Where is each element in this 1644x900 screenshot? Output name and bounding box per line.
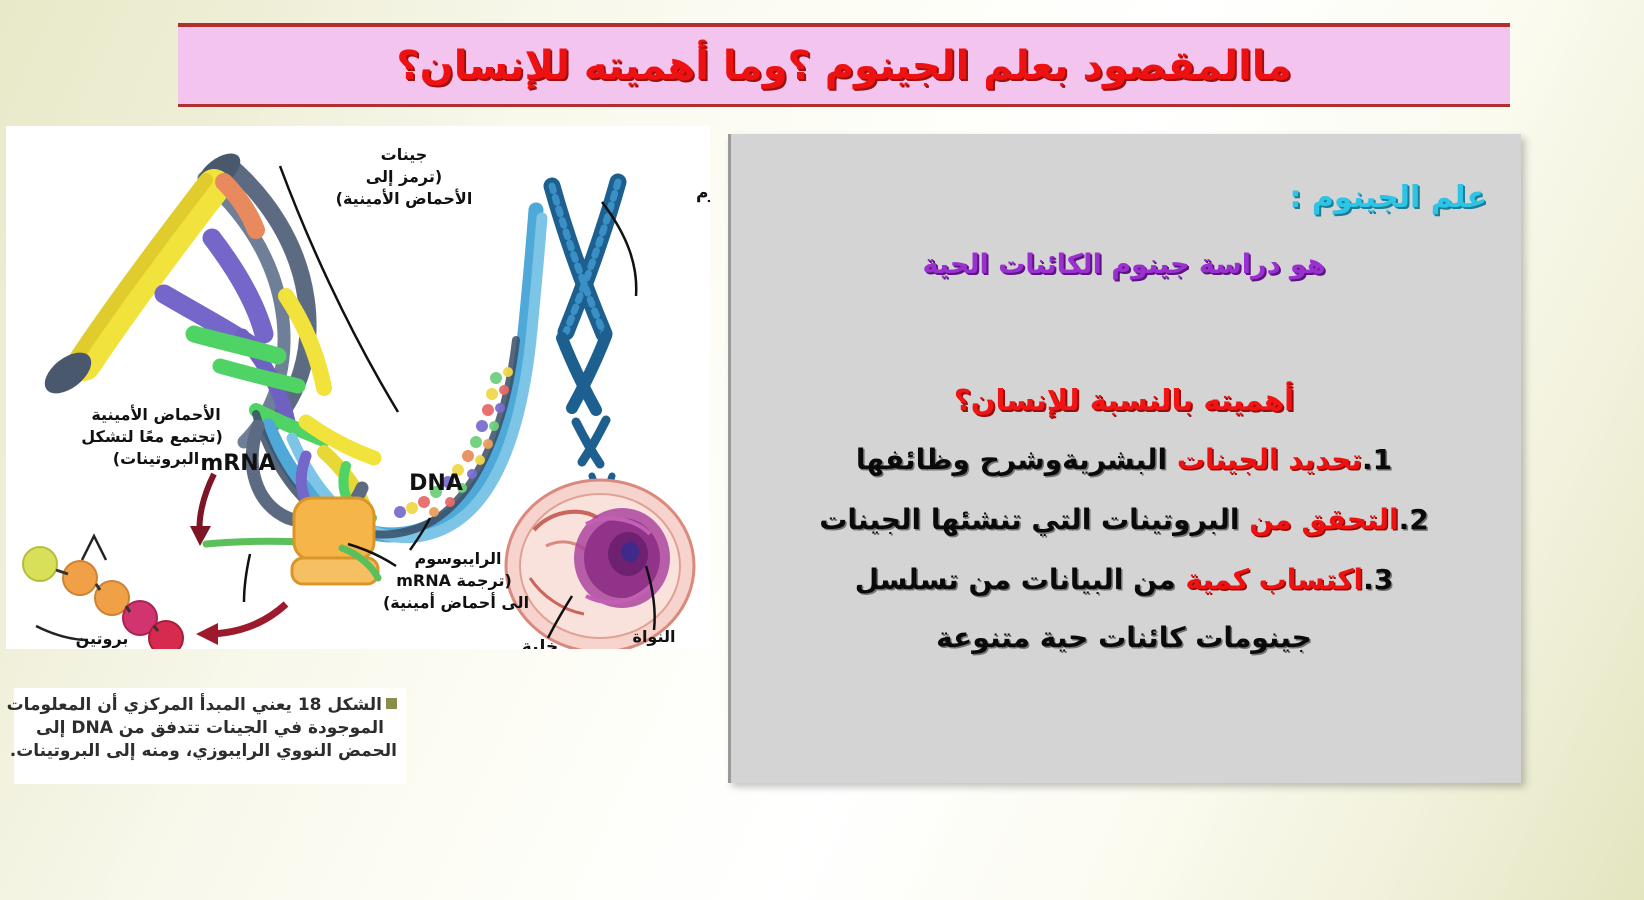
list-item-text: البشريةوشرح وظائفها bbox=[856, 443, 1177, 476]
label-gene: جينات bbox=[381, 145, 428, 164]
page-title: ماالمقصود بعلم الجينوم ؟وما أهميته للإنس… bbox=[396, 45, 1291, 87]
list-item-number: 1. bbox=[1362, 443, 1392, 476]
caption-figure-number: 18 bbox=[298, 695, 322, 715]
biology-diagram-panel: جينات (ترمز إلى الأحماض الأمينية) كروموس… bbox=[6, 126, 710, 649]
label-ribosome-sub2: الى أحماض أمينية) bbox=[383, 592, 529, 612]
content-card: علم الجينوم : هو دراسة جينوم الكائنات ال… bbox=[728, 134, 1521, 783]
list-item-number: 2. bbox=[1399, 503, 1429, 536]
label-nucleus: النواة bbox=[633, 627, 676, 646]
caption-line-1: الشكل 18 يعني المبدأ المركزي أن المعلوما… bbox=[23, 694, 397, 717]
list-item: 1.تحديد الجينات البشريةوشرح وظائفها bbox=[761, 443, 1487, 477]
list-item-highlight: تحديد الجينات bbox=[1177, 443, 1362, 476]
importance-heading: أهميته بالنسبة للإنسان؟ bbox=[761, 383, 1487, 417]
list-item-continuation: جينومات كائنات حية متنوعة bbox=[761, 621, 1487, 654]
list-item-text: من البيانات من تسلسل bbox=[855, 563, 1186, 596]
caption-rest: يعني المبدأ المركزي أن المعلومات bbox=[7, 695, 292, 715]
label-cell: خلية bbox=[522, 637, 558, 649]
figure-caption-box: الشكل 18 يعني المبدأ المركزي أن المعلوما… bbox=[14, 688, 406, 784]
central-dogma-diagram: جينات (ترمز إلى الأحماض الأمينية) كروموس… bbox=[6, 126, 710, 649]
label-ribosome: الرايبوسوم bbox=[415, 549, 502, 568]
list-item-highlight: التحقق من bbox=[1249, 503, 1398, 536]
list-item-text: البروتينات التي تنشئها الجينات bbox=[819, 503, 1249, 536]
caption-line-2: الموجودة في الجينات تتدفق من DNA إلى bbox=[23, 717, 397, 740]
label-dna: DNA bbox=[409, 471, 463, 496]
label-amino-sub2: البروتينات) bbox=[113, 449, 199, 468]
list-item: 3.اكتساب كمية من البيانات من تسلسل bbox=[761, 563, 1487, 597]
label-amino-sub1: (تجتمع معًا لتشكل bbox=[81, 427, 223, 446]
list-item: 2.التحقق من البروتينات التي تنشئها الجين… bbox=[761, 503, 1487, 537]
list-item-highlight: اكتساب كمية bbox=[1185, 563, 1363, 596]
caption-prefix: الشكل bbox=[327, 695, 382, 715]
label-amino-acids: الأحماض الأمينية bbox=[91, 405, 220, 424]
label-ribosome-sub1: (ترجمة mRNA bbox=[396, 571, 512, 590]
cell-nucleus-graphic bbox=[506, 480, 694, 649]
caption-line-3: الحمض النووي الرايبوزي، ومنه إلى البروتي… bbox=[23, 740, 397, 763]
slide-title-banner: ماالمقصود بعلم الجينوم ؟وما أهميته للإنس… bbox=[178, 23, 1510, 107]
label-mrna: mRNA bbox=[200, 451, 275, 476]
genomics-definition: هو دراسة جينوم الكائنات الحية bbox=[761, 249, 1487, 280]
genomics-heading: علم الجينوم : bbox=[761, 180, 1487, 215]
list-item-number: 3. bbox=[1363, 563, 1393, 596]
caption-bullet-marker bbox=[386, 698, 397, 709]
importance-list: 1.تحديد الجينات البشريةوشرح وظائفها 2.ال… bbox=[761, 443, 1487, 597]
label-gene-sub1: (ترمز إلى bbox=[366, 167, 442, 186]
label-chromosome: كروموسوم bbox=[696, 183, 710, 203]
label-gene-sub2: الأحماض الأمينية) bbox=[336, 189, 473, 208]
label-protein: بروتين bbox=[76, 629, 129, 648]
